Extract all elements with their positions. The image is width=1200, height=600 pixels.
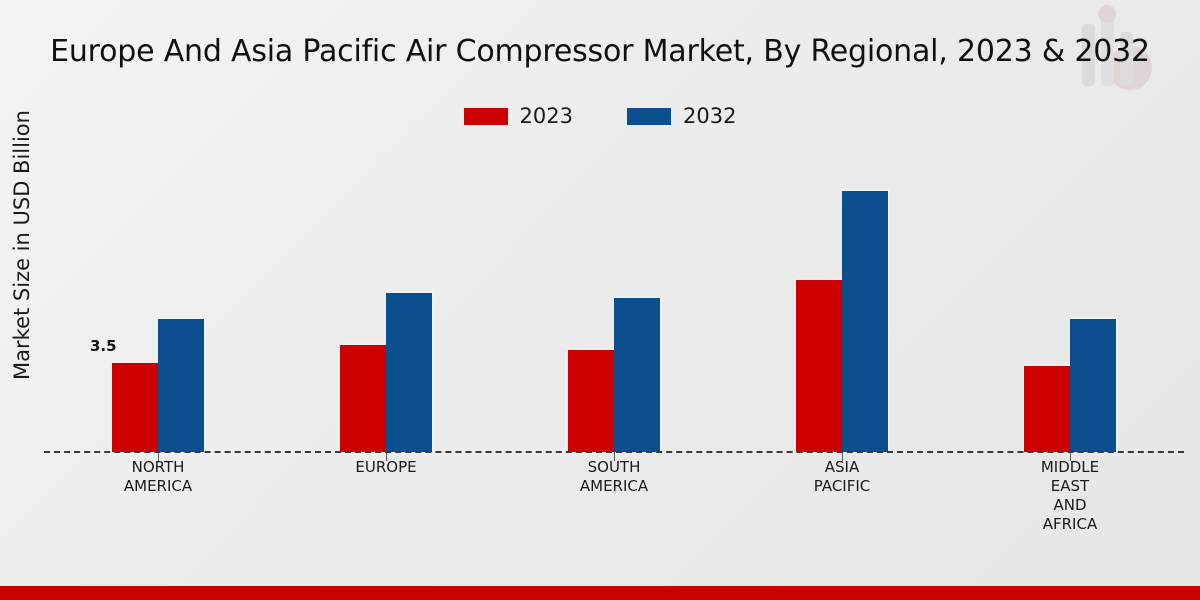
x-axis-label-line: MIDDLE	[956, 458, 1184, 477]
bar-group: 3.5	[44, 140, 272, 452]
x-axis-label-line: PACIFIC	[728, 477, 956, 496]
legend-swatch-blue-icon	[627, 108, 671, 125]
x-axis-label-line: AND	[956, 496, 1184, 515]
x-axis-baseline	[44, 451, 1184, 453]
bar-2032[interactable]	[158, 317, 206, 452]
bar-2023[interactable]	[566, 348, 614, 452]
bar-2023[interactable]	[110, 361, 158, 452]
chart-legend: 2023 2032	[0, 104, 1200, 128]
x-axis-label-line: SOUTH	[500, 458, 728, 477]
bar-pair	[110, 317, 206, 452]
bar-group	[272, 140, 500, 452]
x-axis-category-labels: NORTHAMERICAEUROPESOUTHAMERICAASIAPACIFI…	[44, 458, 1184, 534]
x-axis-label-line: EAST	[956, 477, 1184, 496]
x-axis-label-line: AMERICA	[500, 477, 728, 496]
footer-strip	[0, 586, 1200, 600]
bar-2032[interactable]	[842, 189, 890, 452]
x-axis-label-line: NORTH	[44, 458, 272, 477]
legend-swatch-red-icon	[464, 108, 508, 125]
bar-group	[728, 140, 956, 452]
x-axis-label-middle-east-and-africa: MIDDLEEASTANDAFRICA	[956, 458, 1184, 534]
legend-item-2032[interactable]: 2032	[627, 104, 736, 128]
chart-title: Europe And Asia Pacific Air Compressor M…	[0, 34, 1200, 69]
x-axis-label-line: AMERICA	[44, 477, 272, 496]
bar-2032[interactable]	[614, 296, 662, 452]
bar-group	[500, 140, 728, 452]
y-axis-title: Market Size in USD Billion	[2, 0, 42, 600]
bar-pair	[1022, 317, 1118, 452]
x-axis-label-south-america: SOUTHAMERICA	[500, 458, 728, 534]
x-axis-label-north-america: NORTHAMERICA	[44, 458, 272, 534]
bar-pair	[566, 296, 662, 452]
legend-item-2023[interactable]: 2023	[464, 104, 573, 128]
x-axis-label-europe: EUROPE	[272, 458, 500, 534]
x-axis-label-line: ASIA	[728, 458, 956, 477]
legend-label-2023: 2023	[520, 104, 573, 128]
bar-pair	[338, 291, 434, 452]
bar-2023[interactable]	[1022, 364, 1070, 452]
x-axis-label-asia-pacific: ASIAPACIFIC	[728, 458, 956, 534]
bar-2023[interactable]	[794, 278, 842, 452]
bar-2023[interactable]	[338, 343, 386, 452]
x-axis-label-line: AFRICA	[956, 515, 1184, 534]
plot-area: 3.5	[44, 140, 1184, 452]
bar-pair	[794, 189, 890, 452]
bar-2032[interactable]	[1070, 317, 1118, 452]
bar-2032[interactable]	[386, 291, 434, 452]
x-axis-label-line: EUROPE	[272, 458, 500, 477]
chart-root: Europe And Asia Pacific Air Compressor M…	[0, 0, 1200, 600]
y-axis-title-text: Market Size in USD Billion	[10, 110, 34, 380]
bar-group	[956, 140, 1184, 452]
legend-label-2032: 2032	[683, 104, 736, 128]
